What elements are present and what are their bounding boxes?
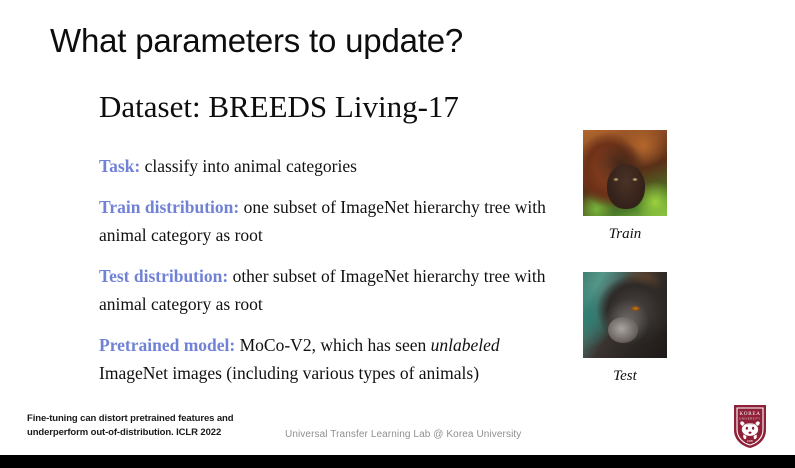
bullet-train-distribution-label: Train distribution: (99, 197, 239, 217)
bullet-task-label: Task: (99, 156, 140, 176)
figure-train-caption: Train (583, 226, 667, 243)
korea-university-crest-icon: KOREA UNIVERSITY 1905 (730, 402, 770, 450)
bullet-test-distribution: Test distribution: other subset of Image… (99, 262, 569, 318)
bullet-list: Task: classify into animal categories Tr… (99, 152, 569, 387)
figure-test: Test (583, 272, 667, 385)
figure-train: Train (583, 130, 667, 243)
bullet-task: Task: classify into animal categories (99, 152, 569, 180)
bullet-pretrained-model-text-before: MoCo-V2, which has seen (235, 335, 430, 355)
slide-canvas: What parameters to update? Dataset: BREE… (0, 0, 795, 468)
bullet-pretrained-model-label: Pretrained model: (99, 335, 235, 355)
svg-text:UNIVERSITY: UNIVERSITY (739, 417, 760, 421)
bullet-test-distribution-label: Test distribution: (99, 266, 228, 286)
orangutan-photo (583, 130, 667, 216)
bullet-pretrained-model-emphasis: unlabeled (431, 335, 500, 355)
dataset-heading: Dataset: BREEDS Living-17 (99, 89, 459, 125)
footer-citation-line-2: underperform out-of-distribution. ICLR 2… (27, 426, 277, 440)
bullet-pretrained-model: Pretrained model: MoCo-V2, which has see… (99, 331, 569, 387)
footer-citation: Fine-tuning can distort pretrained featu… (27, 412, 277, 440)
svg-text:KOREA: KOREA (739, 411, 760, 417)
figure-test-caption: Test (583, 368, 667, 385)
bullet-task-text: classify into animal categories (140, 156, 357, 176)
bullet-train-distribution: Train distribution: one subset of ImageN… (99, 193, 569, 249)
letterbox-bar (0, 455, 795, 468)
page-title: What parameters to update? (50, 22, 463, 60)
bullet-pretrained-model-text-after: ImageNet images (including various types… (99, 363, 479, 383)
footer-lab-label: Universal Transfer Learning Lab @ Korea … (285, 429, 521, 440)
svg-text:1905: 1905 (747, 439, 753, 443)
footer-citation-line-1: Fine-tuning can distort pretrained featu… (27, 412, 277, 426)
gorilla-photo (583, 272, 667, 358)
